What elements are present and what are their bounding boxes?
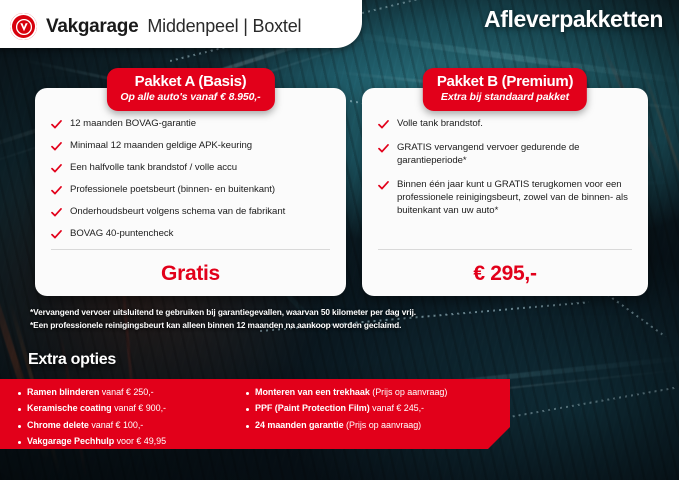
package-a-subtitle: Op alle auto's vanaf € 8.950,- xyxy=(120,91,260,104)
extra-option-item: Vakgarage Pechhulp voor € 49,95 xyxy=(18,436,236,447)
check-icon xyxy=(51,230,62,239)
extra-option-label: PPF (Paint Protection Film) vanaf € 245,… xyxy=(255,403,424,414)
extra-option-name: Ramen blinderen xyxy=(27,387,99,397)
extra-option-label: Chrome delete vanaf € 100,- xyxy=(27,420,143,431)
brand-name: Vakgarage xyxy=(46,16,138,38)
extra-option-detail: (Prijs op aanvraag) xyxy=(370,387,448,397)
feature-item: 12 maanden BOVAG-garantie xyxy=(51,118,330,131)
feature-item: Onderhoudsbeurt volgens schema van de fa… xyxy=(51,206,330,219)
extra-option-detail: vanaf € 900,- xyxy=(112,403,166,413)
bullet-icon xyxy=(246,408,249,411)
check-icon xyxy=(378,144,389,153)
extra-option-name: 24 maanden garantie xyxy=(255,420,344,430)
package-a-feature-list: 12 maanden BOVAG-garantieMinimaal 12 maa… xyxy=(35,88,346,241)
extra-option-item: Keramische coating vanaf € 900,- xyxy=(18,403,236,414)
feature-label: Volle tank brandstof. xyxy=(397,118,483,131)
check-icon xyxy=(51,120,62,129)
check-icon xyxy=(378,120,389,129)
package-b-divider xyxy=(378,249,632,250)
extra-options-left-column: Ramen blinderen vanaf € 250,-Keramische … xyxy=(18,387,236,452)
check-icon xyxy=(51,186,62,195)
extra-option-label: Keramische coating vanaf € 900,- xyxy=(27,403,166,414)
feature-label: Een halfvolle tank brandstof / volle acc… xyxy=(70,162,237,175)
extra-option-name: Monteren van een trekhaak xyxy=(255,387,370,397)
extra-option-item: 24 maanden garantie (Prijs op aanvraag) xyxy=(246,420,447,431)
page-title: Afleverpakketten xyxy=(484,6,663,33)
feature-item: Een halfvolle tank brandstof / volle acc… xyxy=(51,162,330,175)
extra-option-name: Vakgarage Pechhulp xyxy=(27,436,114,446)
vakgarage-v-shield-icon xyxy=(10,13,37,40)
extra-option-item: Monteren van een trekhaak (Prijs op aanv… xyxy=(246,387,447,398)
check-icon xyxy=(51,208,62,217)
extra-options-right-column: Monteren van een trekhaak (Prijs op aanv… xyxy=(246,387,447,452)
feature-item: Binnen één jaar kunt u GRATIS terugkomen… xyxy=(378,179,632,218)
footnote-1: *Vervangend vervoer uitsluitend te gebru… xyxy=(30,306,416,319)
feature-label: 12 maanden BOVAG-garantie xyxy=(70,118,196,131)
bullet-icon xyxy=(246,425,249,428)
check-icon xyxy=(51,164,62,173)
extra-option-name: PPF (Paint Protection Film) xyxy=(255,403,370,413)
extra-option-item: Chrome delete vanaf € 100,- xyxy=(18,420,236,431)
feature-item: Minimaal 12 maanden geldige APK-keuring xyxy=(51,140,330,153)
package-b-subtitle: Extra bij standaard pakket xyxy=(437,91,573,104)
brand-logo[interactable]: Vakgarage Middenpeel | Boxtel xyxy=(10,13,301,40)
bullet-icon xyxy=(18,425,21,428)
extra-option-detail: (Prijs op aanvraag) xyxy=(344,420,422,430)
package-a-ribbon: Pakket A (Basis) Op alle auto's vanaf € … xyxy=(106,68,274,111)
extra-option-label: Monteren van een trekhaak (Prijs op aanv… xyxy=(255,387,447,398)
package-a-price: Gratis xyxy=(35,262,346,286)
extra-option-label: 24 maanden garantie (Prijs op aanvraag) xyxy=(255,420,421,431)
extra-option-detail: vanaf € 245,- xyxy=(370,403,424,413)
extra-option-name: Keramische coating xyxy=(27,403,112,413)
bullet-icon xyxy=(18,392,21,395)
package-card-a: Pakket A (Basis) Op alle auto's vanaf € … xyxy=(35,88,346,296)
feature-label: Minimaal 12 maanden geldige APK-keuring xyxy=(70,140,252,153)
extra-option-item: Ramen blinderen vanaf € 250,- xyxy=(18,387,236,398)
header-banner: Vakgarage Middenpeel | Boxtel xyxy=(0,0,362,48)
package-b-title: Pakket B (Premium) xyxy=(437,73,573,90)
feature-item: GRATIS vervangend vervoer gedurende de g… xyxy=(378,142,632,168)
extra-option-detail: vanaf € 100,- xyxy=(89,420,143,430)
check-icon xyxy=(378,181,389,190)
bullet-icon xyxy=(18,408,21,411)
extra-options-bar: Ramen blinderen vanaf € 250,-Keramische … xyxy=(0,379,510,449)
package-a-divider xyxy=(51,249,330,250)
bullet-icon xyxy=(246,392,249,395)
extra-options-columns: Ramen blinderen vanaf € 250,-Keramische … xyxy=(0,379,510,452)
extra-option-name: Chrome delete xyxy=(27,420,89,430)
extra-option-label: Ramen blinderen vanaf € 250,- xyxy=(27,387,154,398)
footnotes: *Vervangend vervoer uitsluitend te gebru… xyxy=(30,306,416,333)
extra-option-detail: vanaf € 250,- xyxy=(99,387,153,397)
brand-location: Middenpeel | Boxtel xyxy=(147,16,301,37)
package-b-price: € 295,- xyxy=(362,262,648,286)
feature-label: BOVAG 40-puntencheck xyxy=(70,228,173,241)
feature-item: Professionele poetsbeurt (binnen- en bui… xyxy=(51,184,330,197)
feature-item: Volle tank brandstof. xyxy=(378,118,632,131)
feature-label: Binnen één jaar kunt u GRATIS terugkomen… xyxy=(397,179,632,218)
poster-root: Vakgarage Middenpeel | Boxtel Afleverpak… xyxy=(0,0,679,480)
package-b-ribbon: Pakket B (Premium) Extra bij standaard p… xyxy=(423,68,587,111)
feature-label: Professionele poetsbeurt (binnen- en bui… xyxy=(70,184,275,197)
check-icon xyxy=(51,142,62,151)
package-card-b: Pakket B (Premium) Extra bij standaard p… xyxy=(362,88,648,296)
package-a-title: Pakket A (Basis) xyxy=(120,73,260,90)
footnote-2: *Een professionele reinigingsbeurt kan a… xyxy=(30,319,416,332)
extra-option-label: Vakgarage Pechhulp voor € 49,95 xyxy=(27,436,166,447)
extra-options-title: Extra opties xyxy=(28,351,116,369)
extra-option-item: PPF (Paint Protection Film) vanaf € 245,… xyxy=(246,403,447,414)
extra-option-detail: voor € 49,95 xyxy=(114,436,166,446)
feature-item: BOVAG 40-puntencheck xyxy=(51,228,330,241)
bullet-icon xyxy=(18,441,21,444)
feature-label: Onderhoudsbeurt volgens schema van de fa… xyxy=(70,206,285,219)
feature-label: GRATIS vervangend vervoer gedurende de g… xyxy=(397,142,632,168)
